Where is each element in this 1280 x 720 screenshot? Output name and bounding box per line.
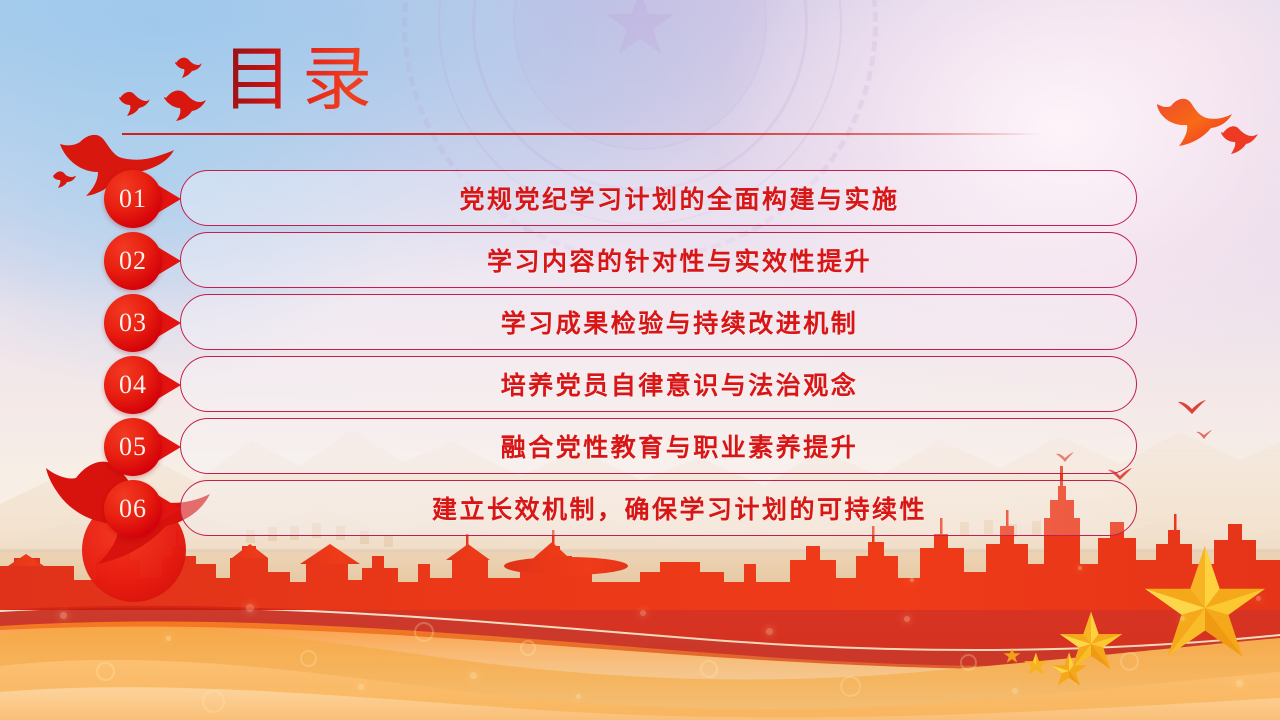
toc-pill[interactable]: 学习内容的针对性与实效性提升 xyxy=(180,232,1137,288)
toc-label: 学习内容的针对性与实效性提升 xyxy=(445,242,872,278)
title-block: 目录 xyxy=(0,0,1280,150)
toc-number-badge: 01 xyxy=(104,170,162,228)
toc-label: 党规党纪学习计划的全面构建与实施 xyxy=(417,180,899,216)
toc-item-01[interactable]: 01 党规党纪学习计划的全面构建与实施 xyxy=(0,168,1280,230)
toc-number-badge: 03 xyxy=(104,294,162,352)
toc-label: 培养党员自律意识与法治观念 xyxy=(459,366,859,402)
toc-pill[interactable]: 党规党纪学习计划的全面构建与实施 xyxy=(180,170,1137,226)
toc-pill[interactable]: 培养党员自律意识与法治观念 xyxy=(180,356,1137,412)
toc-number: 06 xyxy=(119,494,147,524)
toc-pill[interactable]: 建立长效机制，确保学习计划的可持续性 xyxy=(180,480,1137,536)
toc-number: 01 xyxy=(119,184,147,214)
toc-number: 04 xyxy=(119,370,147,400)
presentation-slide: 目录 01 党规党纪学习计划的全面构建与实施 02 学习内容的针对性与实效性提升 xyxy=(0,0,1280,720)
title-underline xyxy=(122,133,1042,135)
toc-item-03[interactable]: 03 学习成果检验与持续改进机制 xyxy=(0,292,1280,354)
toc-item-04[interactable]: 04 培养党员自律意识与法治观念 xyxy=(0,354,1280,416)
toc-pill[interactable]: 学习成果检验与持续改进机制 xyxy=(180,294,1137,350)
toc-number: 03 xyxy=(119,308,147,338)
toc-number-badge: 06 xyxy=(104,480,162,538)
toc-number-badge: 05 xyxy=(104,418,162,476)
toc-number-badge: 02 xyxy=(104,232,162,290)
toc-label: 学习成果检验与持续改进机制 xyxy=(459,304,859,340)
toc-pill[interactable]: 融合党性教育与职业素养提升 xyxy=(180,418,1137,474)
toc-item-05[interactable]: 05 融合党性教育与职业素养提升 xyxy=(0,416,1280,478)
toc-label: 建立长效机制，确保学习计划的可持续性 xyxy=(390,490,927,526)
toc-label: 融合党性教育与职业素养提升 xyxy=(459,428,859,464)
table-of-contents: 01 党规党纪学习计划的全面构建与实施 02 学习内容的针对性与实效性提升 03… xyxy=(0,168,1280,540)
toc-item-06[interactable]: 06 建立长效机制，确保学习计划的可持续性 xyxy=(0,478,1280,540)
toc-number: 05 xyxy=(119,432,147,462)
toc-number-badge: 04 xyxy=(104,356,162,414)
toc-number: 02 xyxy=(119,246,147,276)
page-title: 目录 xyxy=(222,46,382,116)
toc-item-02[interactable]: 02 学习内容的针对性与实效性提升 xyxy=(0,230,1280,292)
